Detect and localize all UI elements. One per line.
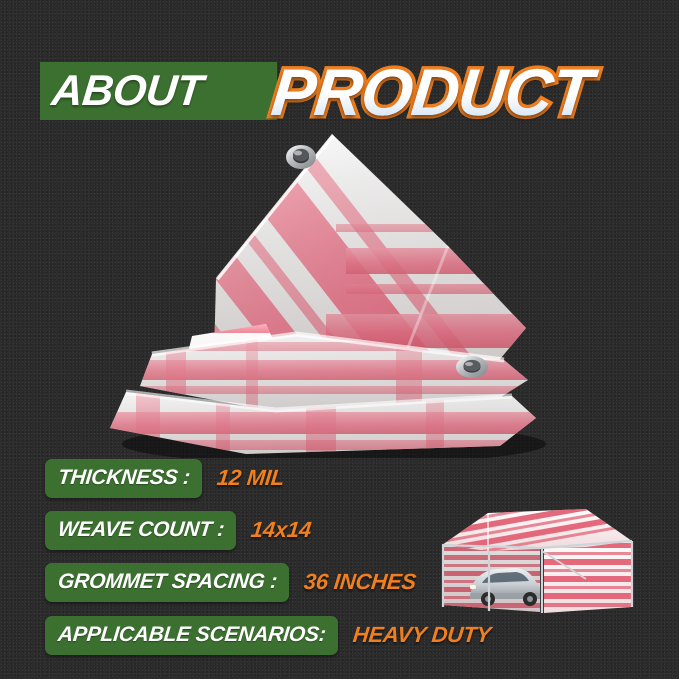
spec-row-thickness: THICKNESS : 12 MIL <box>45 460 284 496</box>
spec-label-badge: GROMMET SPACING : <box>45 563 289 602</box>
product-photo-tarp <box>96 128 566 458</box>
spec-value-text: 12 MIL <box>216 465 286 491</box>
carport-illustration <box>436 507 639 617</box>
spec-value-text: 14x14 <box>250 517 313 543</box>
grommet-icon <box>286 145 316 169</box>
spec-label-badge: THICKNESS : <box>45 459 202 498</box>
header: ABOUT PRODUCT PRODUCT <box>0 26 679 116</box>
infographic-canvas: ABOUT PRODUCT PRODUCT <box>0 0 679 679</box>
spec-label-badge: WEAVE COUNT : <box>45 511 236 550</box>
tarp-illustration <box>96 128 566 458</box>
spec-label-text: THICKNESS : <box>57 466 192 490</box>
spec-row-grommet-spacing: GROMMET SPACING : 36 INCHES <box>45 564 416 600</box>
product-title-outline: PRODUCT <box>268 51 596 133</box>
spec-label-text: WEAVE COUNT : <box>57 518 226 542</box>
grommet-icon <box>456 356 488 378</box>
spec-value-text: 36 INCHES <box>303 569 418 595</box>
inset-photo-carport <box>436 507 639 617</box>
spec-row-applicable-scenarios: APPLICABLE SCENARIOS: HEAVY DUTY <box>45 617 490 653</box>
about-banner-label: ABOUT <box>49 62 205 120</box>
spec-value-text: HEAVY DUTY <box>351 622 492 648</box>
spec-row-weave-count: WEAVE COUNT : 14x14 <box>45 512 311 548</box>
spec-label-text: GROMMET SPACING : <box>57 570 279 594</box>
spec-label-text: APPLICABLE SCENARIOS: <box>57 623 327 647</box>
spec-label-badge: APPLICABLE SCENARIOS: <box>45 616 338 655</box>
